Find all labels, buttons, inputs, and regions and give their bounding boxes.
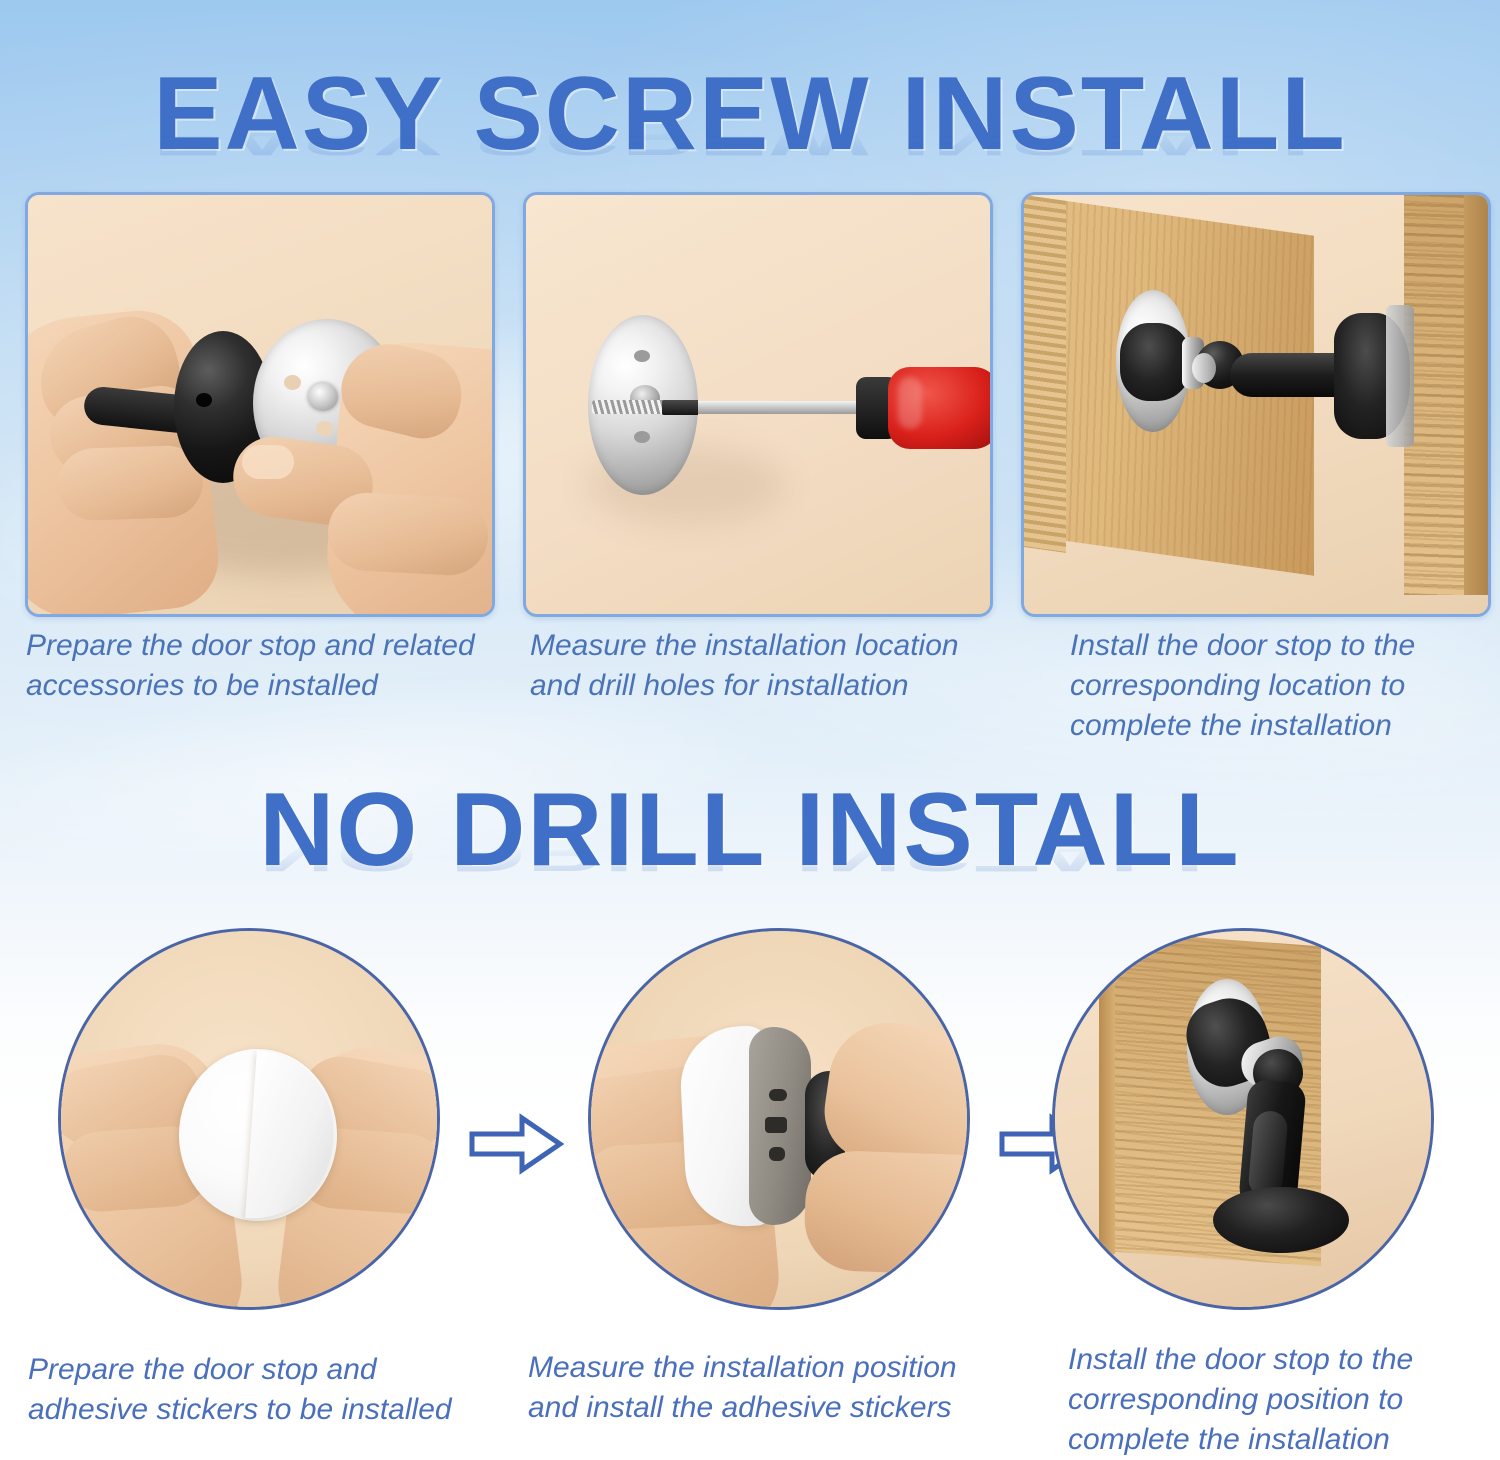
heading-reflection: EASY SCREW INSTALL <box>0 114 1500 162</box>
step-caption: Prepare the door stop and adhesive stick… <box>28 1350 498 1430</box>
step-image-drill-holes <box>523 192 993 617</box>
step-caption: Measure the installation position and in… <box>528 1348 998 1428</box>
product-instruction-poster: EASY SCREW INSTALL EASY SCREW INSTALL <box>0 0 1500 1460</box>
step-image-installed-floor-door-stop <box>1052 928 1434 1310</box>
step-caption: Install the door stop to the correspondi… <box>1068 1340 1468 1460</box>
step-caption: Prepare the door stop and related access… <box>26 626 496 706</box>
step-image-apply-adhesive-sticker <box>588 928 970 1310</box>
step-caption: Install the door stop to the correspondi… <box>1070 626 1470 746</box>
step-caption: Measure the installation location and dr… <box>530 626 1000 706</box>
step-image-install-door-stop <box>1021 192 1491 617</box>
heading-reflection: NO DRILL INSTALL <box>0 830 1500 878</box>
step-image-prepare-adhesive-sticker <box>58 928 440 1310</box>
arrow-right-icon <box>468 1112 564 1181</box>
step-image-prepare-door-stop <box>25 192 495 617</box>
